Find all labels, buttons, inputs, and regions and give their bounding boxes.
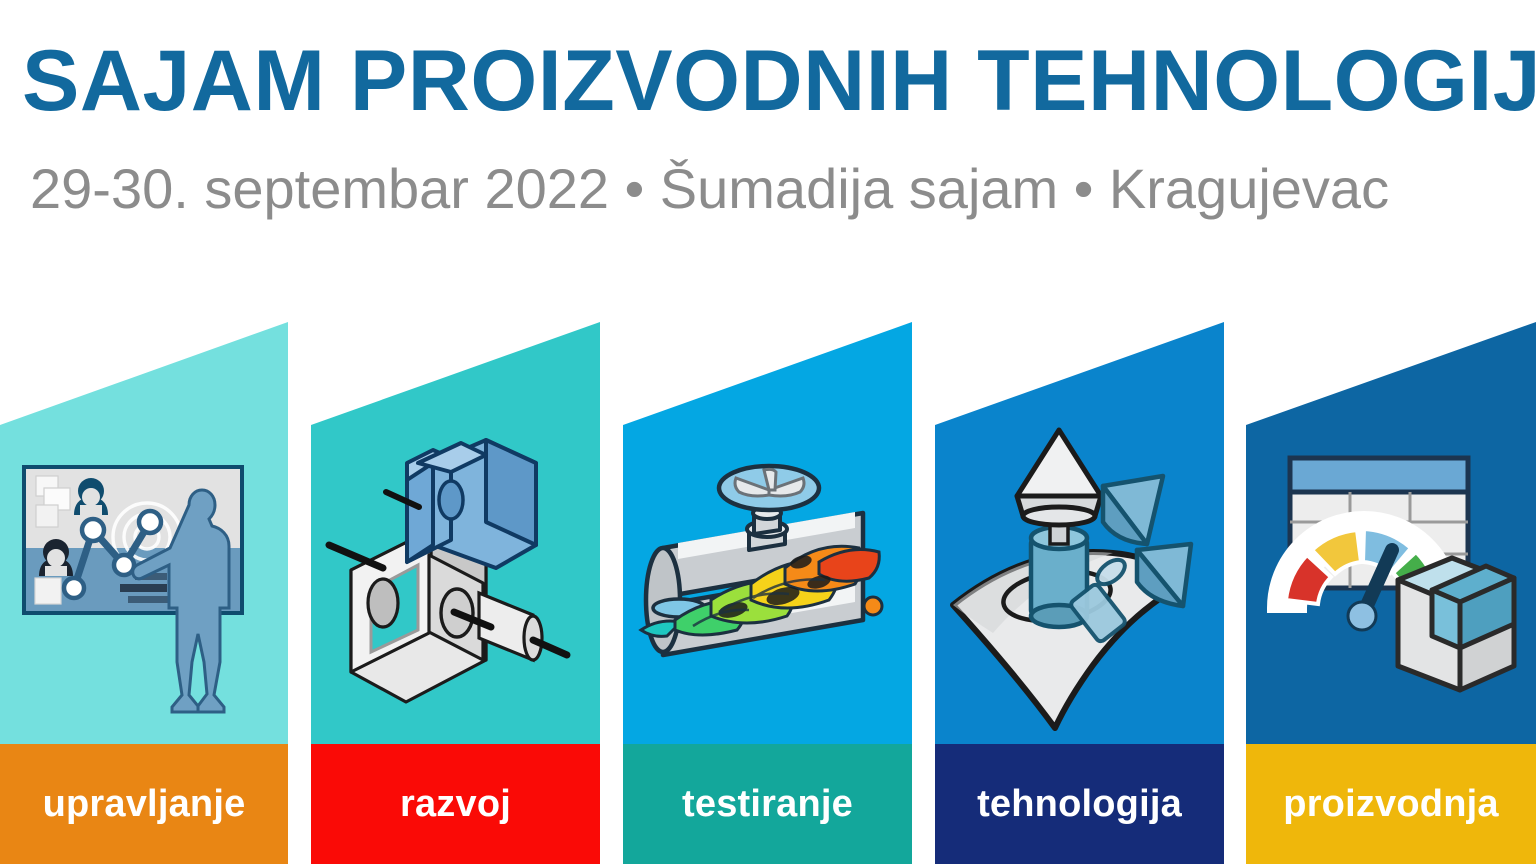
page-title: SAJAM PROIZVODNIH TEHNOLOGIJA bbox=[22, 38, 1522, 124]
category-panel-razvoj[interactable]: razvoj bbox=[311, 300, 600, 864]
panel-background-shape-3 bbox=[623, 300, 912, 744]
panel-label-text-1: upravljanje bbox=[43, 785, 246, 823]
panel-label-bar-1: upravljanje bbox=[0, 744, 288, 864]
panel-background-shape-5 bbox=[1246, 300, 1536, 744]
panel-background-shape-2 bbox=[311, 300, 600, 744]
panel-label-bar-3: testiranje bbox=[623, 744, 912, 864]
panel-label-bar-5: proizvodnja bbox=[1246, 744, 1536, 864]
category-panel-upravljanje[interactable]: upravljanje bbox=[0, 300, 288, 864]
event-subtitle: 29-30. septembar 2022 • Šumadija sajam •… bbox=[30, 160, 1520, 219]
category-panel-proizvodnja[interactable]: proizvodnja bbox=[1246, 300, 1536, 864]
panel-background-shape-1 bbox=[0, 300, 288, 744]
category-panel-strip: upravljanje bbox=[0, 300, 1536, 864]
panel-label-text-3: testiranje bbox=[682, 785, 853, 823]
panel-label-text-5: proizvodnja bbox=[1283, 785, 1498, 823]
category-panel-tehnologija[interactable]: tehnologija bbox=[935, 300, 1224, 864]
poster-header: SAJAM PROIZVODNIH TEHNOLOGIJA 29-30. sep… bbox=[0, 0, 1536, 300]
category-panel-testiranje[interactable]: testiranje bbox=[623, 300, 912, 864]
panel-label-text-2: razvoj bbox=[400, 785, 511, 823]
panel-background-shape-4 bbox=[935, 300, 1224, 744]
panel-label-text-4: tehnologija bbox=[977, 785, 1182, 823]
panel-label-bar-4: tehnologija bbox=[935, 744, 1224, 864]
panel-label-bar-2: razvoj bbox=[311, 744, 600, 864]
